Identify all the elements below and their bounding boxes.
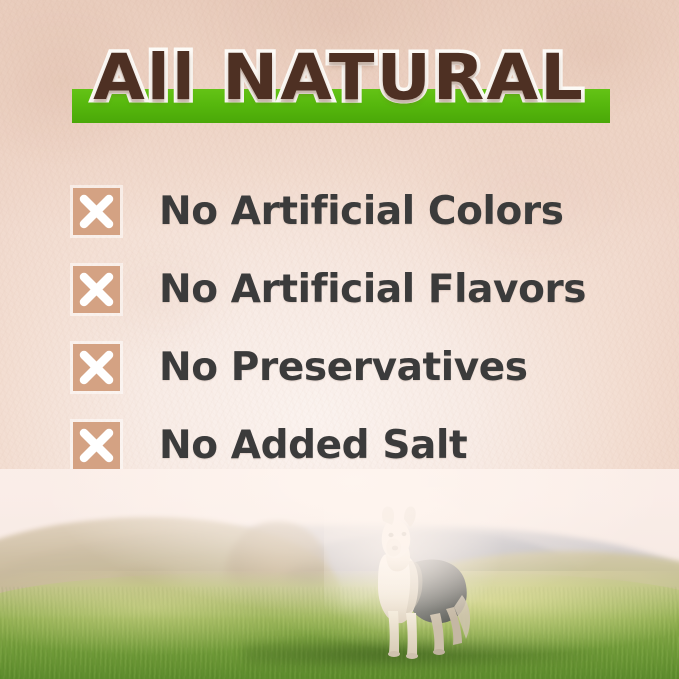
all-natural-poster: All NATURAL No Artificial Colors — [0, 0, 679, 679]
x-mark-icon — [73, 188, 120, 235]
dog-photo-subject — [350, 503, 482, 661]
x-mark-icon — [73, 344, 120, 391]
x-mark-icon — [73, 422, 120, 469]
landscape-photo — [0, 469, 679, 679]
headline-banner: All NATURAL — [0, 44, 679, 140]
x-mark-icon — [73, 266, 120, 313]
claim-label: No Artificial Colors — [159, 192, 564, 231]
claims-list: No Artificial Colors No Artificial Flavo… — [73, 172, 643, 484]
page-title-text: All NATURAL — [94, 46, 586, 109]
page-title: All NATURAL — [0, 46, 679, 109]
list-item: No Artificial Flavors — [73, 250, 643, 328]
claim-label: No Artificial Flavors — [159, 270, 586, 309]
list-item: No Artificial Colors — [73, 172, 643, 250]
claim-label: No Preservatives — [159, 348, 528, 387]
claim-label: No Added Salt — [159, 426, 467, 465]
list-item: No Preservatives — [73, 328, 643, 406]
